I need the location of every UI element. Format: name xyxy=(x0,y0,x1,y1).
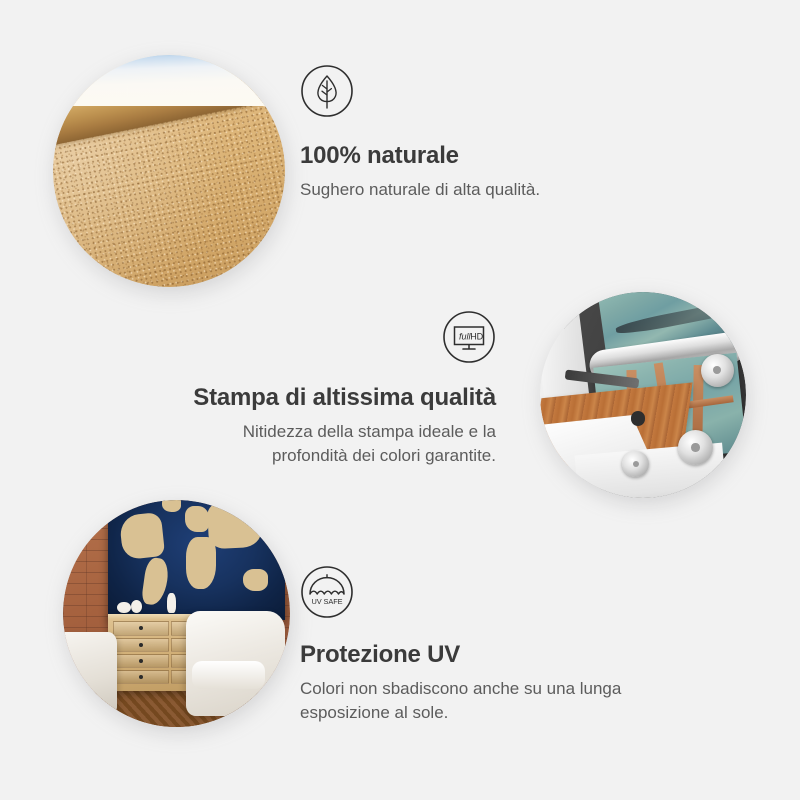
roller-wheel xyxy=(678,430,713,465)
photo-mask xyxy=(63,500,290,727)
feature-description: Colori non sbadiscono anche su una lunga… xyxy=(300,677,670,726)
feature-block-print-quality: full HD Stampa di altissima qualità Niti… xyxy=(176,310,496,469)
map-continent xyxy=(243,569,268,591)
drawer xyxy=(113,654,168,668)
map-continent xyxy=(119,512,166,560)
map-continent xyxy=(206,500,261,549)
feature-title: Protezione UV xyxy=(300,641,670,670)
feature-description: Sughero naturale di alta qualità. xyxy=(300,178,630,203)
icon-container xyxy=(300,64,630,118)
icon-container: full HD xyxy=(176,310,496,364)
map-continent xyxy=(141,557,170,606)
fullhd-monitor-icon: full HD xyxy=(442,310,496,364)
photo-mask xyxy=(53,55,285,287)
living-room-world-map-photo xyxy=(63,500,290,727)
feature-block-natural: 100% naturale Sughero naturale di alta q… xyxy=(300,64,630,202)
photo-mask xyxy=(540,292,746,498)
feature-title: 100% naturale xyxy=(300,142,630,171)
cork-board-closeup-photo xyxy=(53,55,285,287)
drawer xyxy=(113,638,168,652)
feature-block-uv-protection: UV SAFE Protezione UV Colori non sbadisc… xyxy=(300,565,670,726)
armchair-right xyxy=(186,611,286,715)
sky-backdrop xyxy=(53,55,285,106)
machine-knob xyxy=(631,411,645,425)
drawer xyxy=(113,621,168,635)
uv-safe-umbrella-icon: UV SAFE xyxy=(300,565,354,619)
icon-container: UV SAFE xyxy=(300,565,670,619)
map-continent xyxy=(185,506,210,532)
armchair-left xyxy=(63,632,117,714)
printing-machine-photo xyxy=(540,292,746,498)
feature-title: Stampa di altissima qualità xyxy=(176,384,496,413)
feature-description: Nitidezza della stampa ideale e la profo… xyxy=(176,420,496,469)
drawer xyxy=(113,670,168,684)
svg-text:UV SAFE: UV SAFE xyxy=(312,597,343,606)
map-continent xyxy=(186,537,216,589)
feature-highlights-page: 100% naturale Sughero naturale di alta q… xyxy=(0,0,800,800)
decor-object xyxy=(167,593,176,613)
map-continent xyxy=(162,500,181,512)
svg-text:HD: HD xyxy=(470,331,483,341)
roller-wheel xyxy=(701,354,734,387)
leaf-icon xyxy=(300,64,354,118)
